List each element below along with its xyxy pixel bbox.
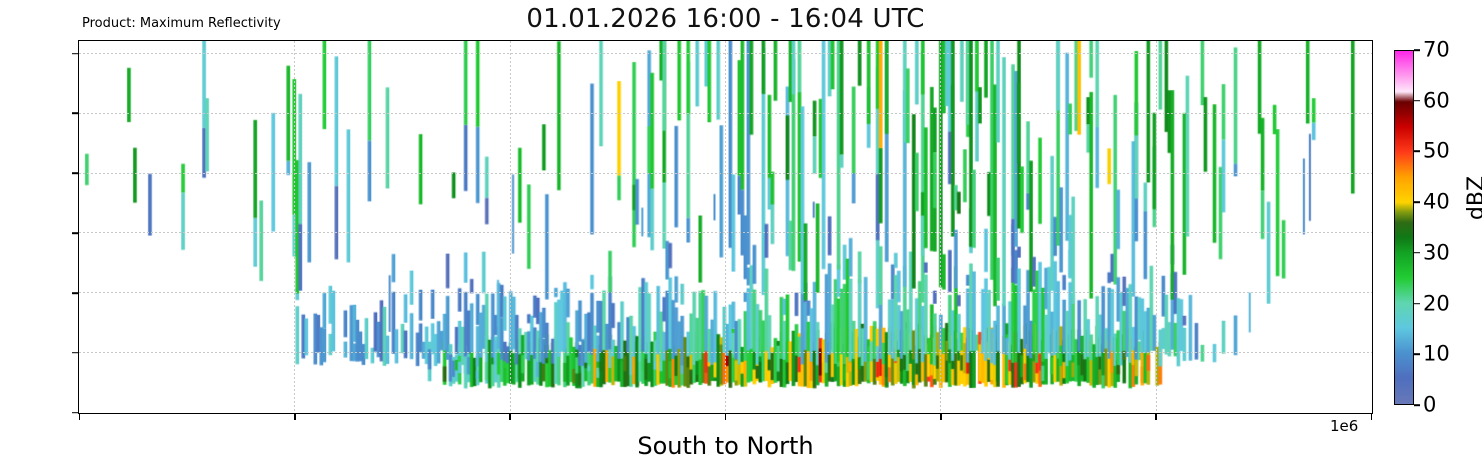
colorbar-tick-label: 20 (1423, 293, 1450, 314)
x-tick-mark (294, 414, 296, 420)
colorbar-tick-label: 40 (1423, 192, 1450, 213)
x-tick-mark (725, 414, 727, 420)
reflectivity-heatmap-canvas (79, 41, 1372, 413)
colorbar-tick-mark (1414, 151, 1420, 153)
x-tick-mark (940, 414, 942, 420)
colorbar-tick-mark (1414, 303, 1420, 305)
y-tick-mark (72, 113, 78, 115)
x-tick-mark (1371, 414, 1373, 420)
colorbar-tick-label: 30 (1423, 242, 1450, 263)
colorbar-tick-label: 10 (1423, 344, 1450, 365)
x-tick-mark (79, 414, 81, 420)
colorbar-tick-label: 0 (1423, 395, 1436, 416)
colorbar-tick-mark (1414, 404, 1420, 406)
y-axis-label: km AMSL (0, 0, 26, 96)
x-axis-offset-label: 1e6 (1330, 418, 1358, 435)
x-tick-mark (1155, 414, 1157, 420)
colorbar-tick-mark (1414, 100, 1420, 102)
colorbar-tick-label: 50 (1423, 141, 1450, 162)
page-title: 01.01.2026 16:00 - 16:04 UTC (78, 4, 1373, 34)
colorbar-tick-mark (1414, 49, 1420, 51)
y-tick-mark (72, 412, 78, 414)
y-tick-mark (72, 232, 78, 234)
colorbar-tick-mark (1414, 252, 1420, 254)
colorbar (1394, 50, 1414, 405)
x-tick-mark (509, 414, 511, 420)
plot-area (78, 40, 1373, 414)
y-tick-mark (72, 292, 78, 294)
colorbar-tick-mark (1414, 353, 1420, 355)
colorbar-unit-label: dBZ (1464, 168, 1482, 228)
y-tick-mark (72, 53, 78, 55)
x-axis-label: South to North (78, 432, 1373, 460)
colorbar-tick-label: 60 (1423, 90, 1450, 111)
colorbar-gradient (1394, 50, 1414, 405)
colorbar-tick-mark (1414, 201, 1420, 203)
colorbar-tick-label: 70 (1423, 40, 1450, 61)
radar-cross-section-figure: Product: Maximum Reflectivity 01.01.2026… (0, 0, 1482, 470)
y-tick-mark (72, 172, 78, 174)
y-tick-mark (72, 352, 78, 354)
